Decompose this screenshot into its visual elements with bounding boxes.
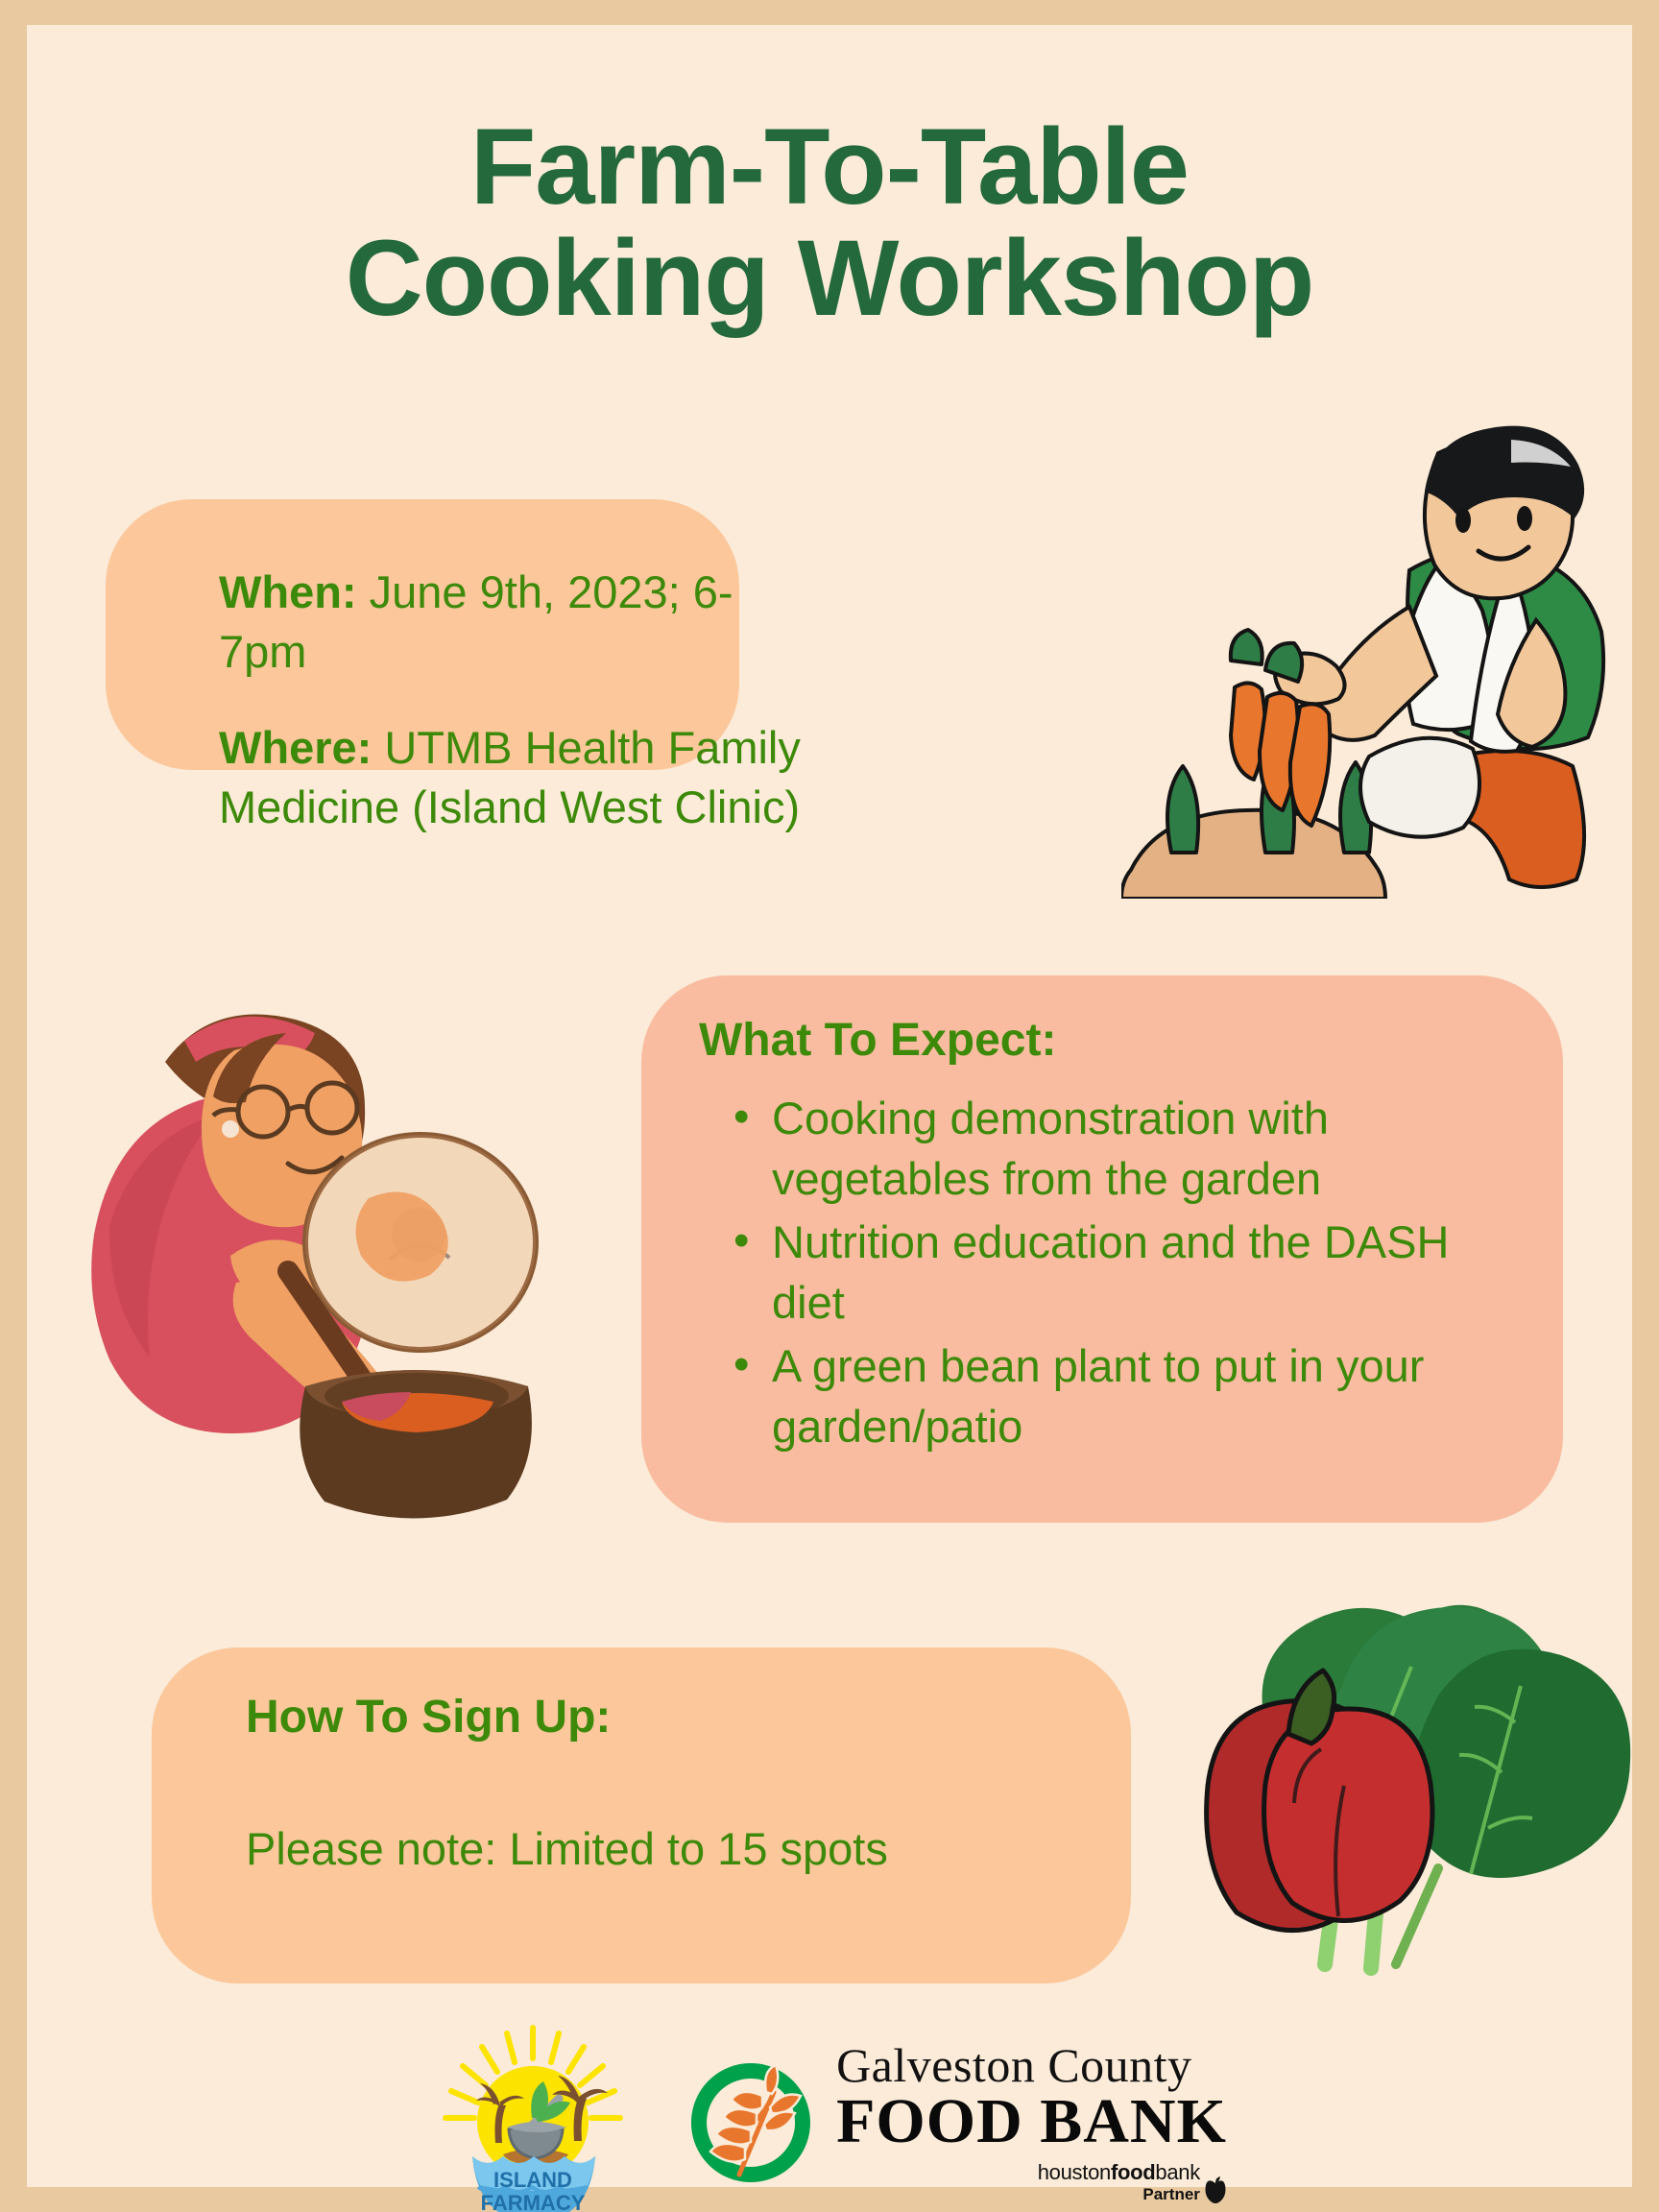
vegetables-illustration <box>1150 1580 1649 1993</box>
poster-canvas: Farm-To-Table Cooking Workshop When: Jun… <box>0 0 1659 2212</box>
food-bank-wordmark: Galveston County FOOD BANK houstonfoodba… <box>836 2041 1227 2203</box>
island-farmacy-line1: ISLAND <box>493 2168 572 2192</box>
page-title: Farm-To-Table Cooking Workshop <box>27 111 1632 335</box>
logo-row: ISLAND FARMACY Gal <box>27 2022 1632 2212</box>
cook-illustration <box>84 995 641 1532</box>
gardener-illustration <box>1121 419 1640 899</box>
food-bank-line-2: FOOD BANK <box>836 2089 1227 2153</box>
what-to-expect-list: Cooking demonstration with vegetables fr… <box>728 1089 1515 1460</box>
when-label: When: <box>219 566 357 617</box>
list-item: Cooking demonstration with vegetables fr… <box>728 1089 1515 1209</box>
how-to-sign-up-heading: How To Sign Up: <box>246 1691 611 1743</box>
apple-icon <box>1204 2176 1227 2204</box>
houston-food-bank-text: houstonfoodbank <box>1038 2160 1200 2185</box>
food-bank-wheat-mark <box>682 2054 821 2193</box>
title-line-1: Farm-To-Table <box>470 107 1189 227</box>
signup-note: Please note: Limited to 15 spots <box>246 1822 888 1875</box>
where-row: Where: UTMB Health Family Medicine (Isla… <box>219 718 814 837</box>
list-item: A green bean plant to put in your garden… <box>728 1336 1515 1456</box>
houston-food-bank-partner-badge: houstonfoodbank Partner <box>1038 2160 1227 2204</box>
when-row: When: June 9th, 2023; 6-7pm <box>219 563 814 682</box>
title-line-2: Cooking Workshop <box>27 223 1632 334</box>
galveston-county-food-bank-logo: Galveston County FOOD BANK houstonfoodba… <box>682 2041 1227 2203</box>
food-bank-line-1: Galveston County <box>836 2041 1227 2089</box>
island-farmacy-line2: FARMACY <box>481 2191 586 2212</box>
where-label: Where: <box>219 722 372 773</box>
what-to-expect-heading: What To Expect: <box>699 1014 1056 1067</box>
list-item: Nutrition education and the DASH diet <box>728 1213 1515 1333</box>
partner-label: Partner <box>1142 2185 1200 2204</box>
island-farmacy-logo: ISLAND FARMACY <box>432 2022 634 2212</box>
poster-inner-panel: Farm-To-Table Cooking Workshop When: Jun… <box>27 25 1632 2187</box>
when-where-content: When: June 9th, 2023; 6-7pm Where: UTMB … <box>219 563 814 837</box>
